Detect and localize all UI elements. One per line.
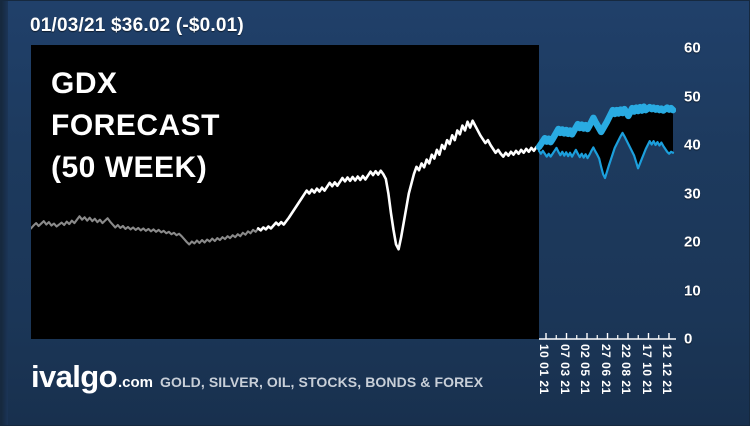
x-axis-tick-4: 22 08 21 bbox=[619, 344, 633, 395]
caption-line-2: FORECAST bbox=[51, 109, 220, 142]
x-axis-tick-2: 02 05 21 bbox=[578, 344, 592, 395]
history-recent-line bbox=[258, 121, 536, 250]
y-axis-tick-50: 50 bbox=[684, 88, 701, 105]
brand-dotcom: .com bbox=[118, 374, 153, 391]
brand-footer: ivalgo .com GOLD, SILVER, OIL, STOCKS, B… bbox=[31, 359, 483, 395]
y-axis-tick-0: 0 bbox=[684, 331, 692, 348]
y-axis-tick-20: 20 bbox=[684, 234, 701, 251]
y-axis-tick-40: 40 bbox=[684, 137, 701, 154]
x-axis-tick-0: 10 01 21 bbox=[537, 344, 551, 395]
x-axis-ticks bbox=[546, 333, 669, 339]
y-axis-tick-60: 60 bbox=[684, 40, 701, 57]
brand-tagline: GOLD, SILVER, OIL, STOCKS, BONDS & FOREX bbox=[160, 374, 483, 390]
caption-line-3: (50 WEEK) bbox=[51, 151, 207, 184]
chart-image: 01/03/21 $36.02 (-$0.01) GDX FORECAST (5… bbox=[0, 0, 750, 426]
chart-caption: GDX FORECAST (50 WEEK) bbox=[51, 63, 220, 189]
x-axis-tick-1: 07 03 21 bbox=[558, 344, 572, 395]
x-axis-tick-5: 17 10 21 bbox=[640, 344, 654, 395]
history-old-line bbox=[31, 216, 258, 244]
caption-line-1: GDX bbox=[51, 67, 118, 100]
x-axis-tick-6: 12 12 21 bbox=[660, 344, 674, 395]
brand-name: ivalgo bbox=[31, 359, 117, 395]
y-axis-tick-30: 30 bbox=[684, 185, 701, 202]
y-axis-tick-10: 10 bbox=[684, 282, 701, 299]
x-axis-tick-3: 27 06 21 bbox=[599, 344, 613, 395]
